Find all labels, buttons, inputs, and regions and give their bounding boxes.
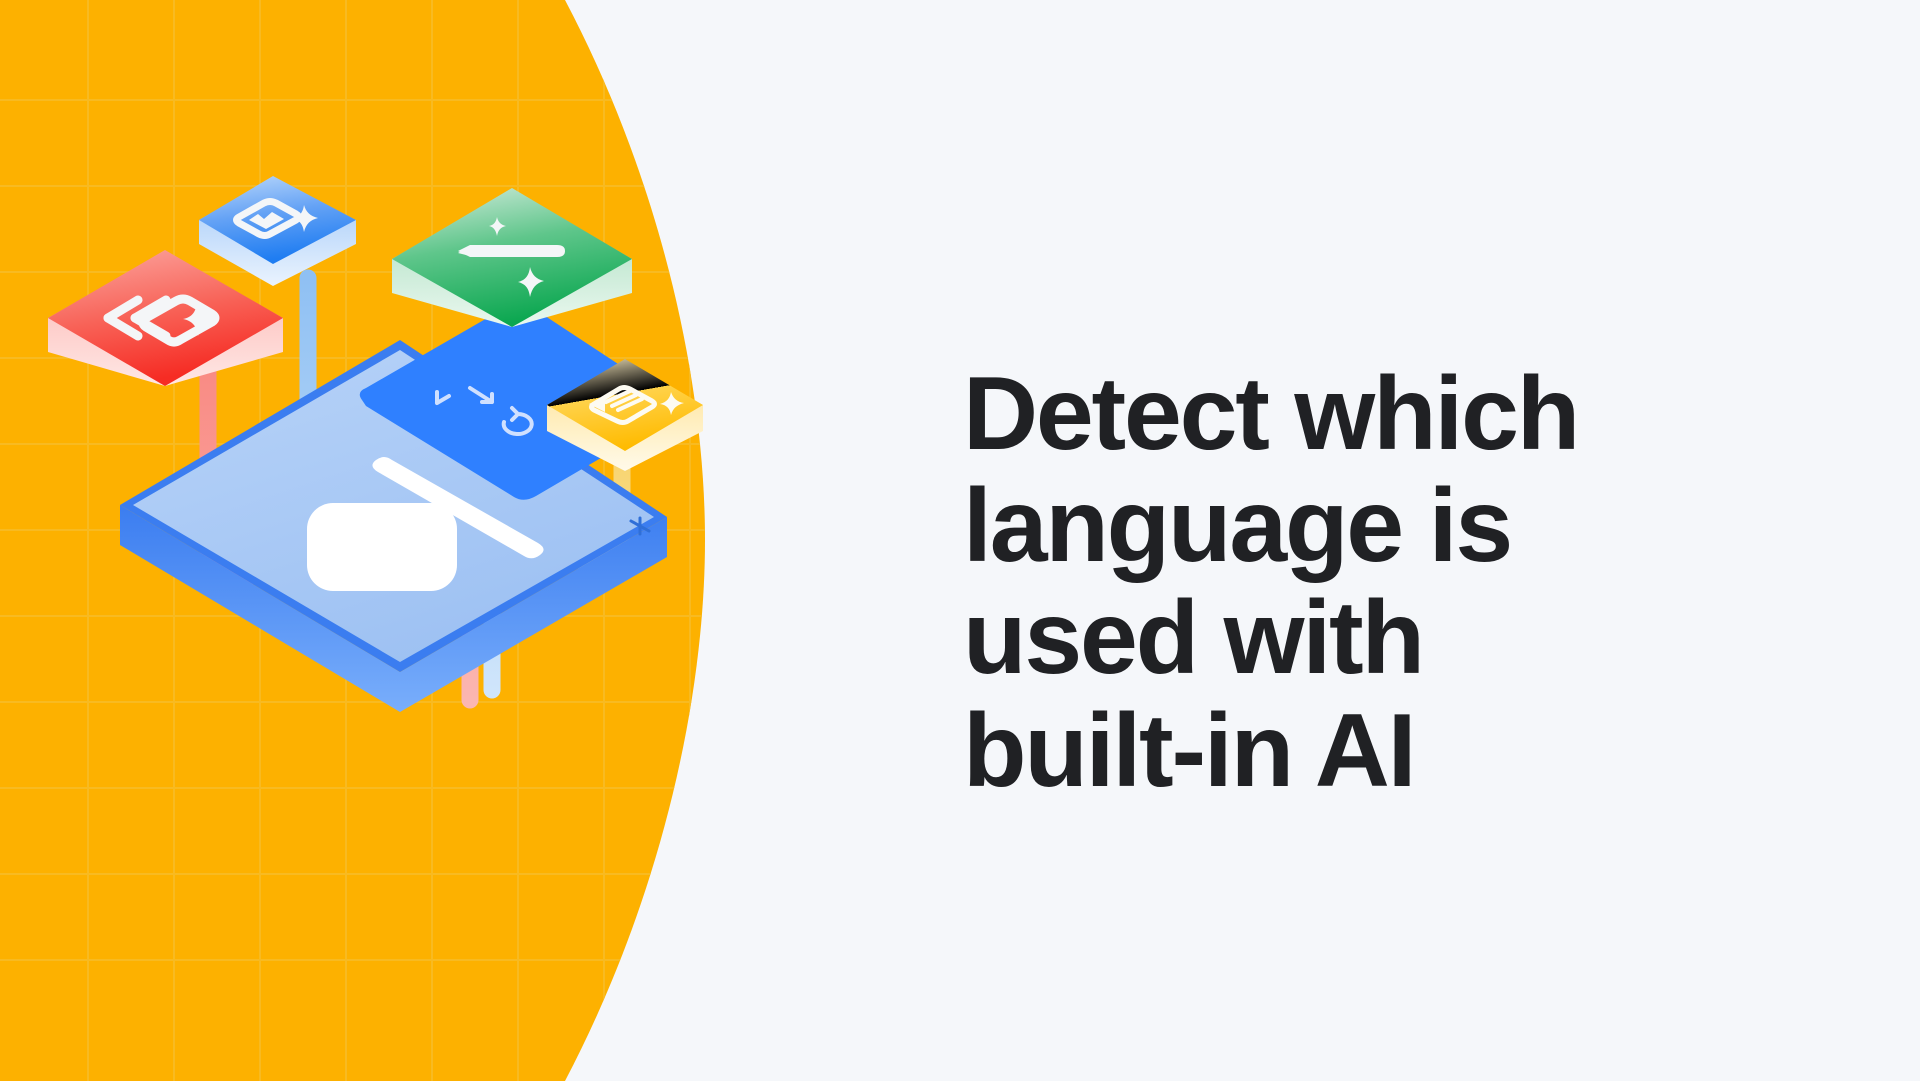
page-title: Detect which language is used with built…	[963, 358, 1803, 807]
card-green[interactable]	[392, 188, 632, 327]
card-green-top	[392, 188, 632, 327]
isometric-illustration	[0, 0, 900, 1081]
center-white-chip[interactable]	[307, 503, 457, 591]
hero-canvas: Detect which language is used with built…	[0, 0, 1920, 1081]
card-blue[interactable]	[199, 176, 356, 286]
